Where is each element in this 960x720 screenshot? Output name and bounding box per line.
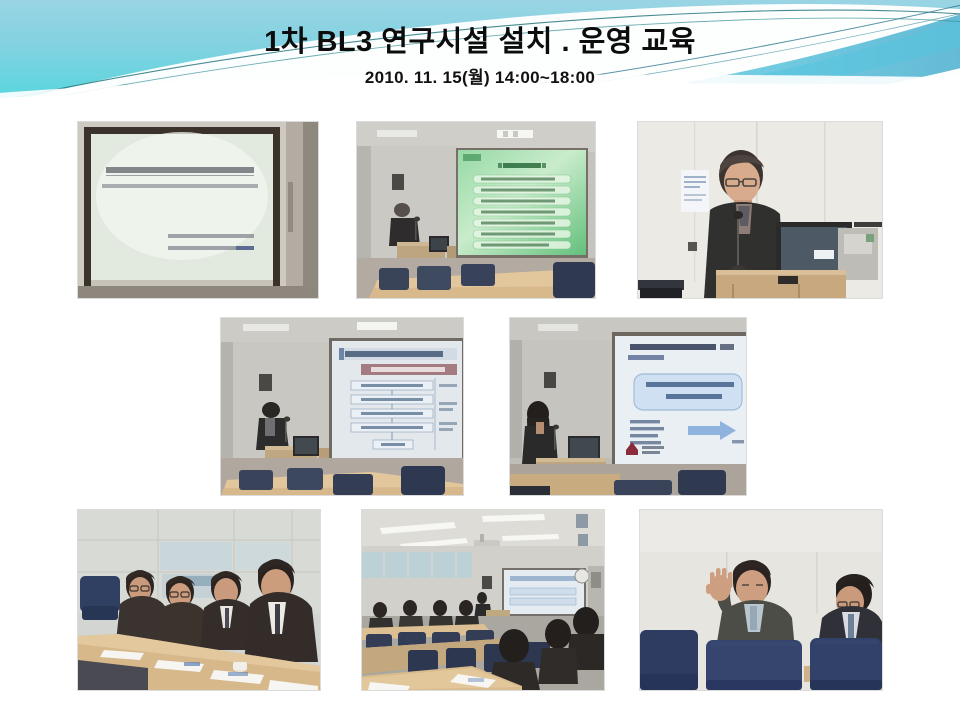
photo-title-slide	[78, 122, 318, 298]
photo-risk-assessment-slide	[510, 318, 746, 495]
photo-toc-slide	[357, 122, 595, 298]
header-banner	[0, 0, 960, 112]
photo-panel-four-men	[78, 510, 320, 690]
photo-permit-slide	[221, 318, 463, 495]
photo-wide-room	[362, 510, 604, 690]
photo-speaker-podium	[638, 122, 882, 298]
photo-question-raised-hand	[640, 510, 882, 690]
